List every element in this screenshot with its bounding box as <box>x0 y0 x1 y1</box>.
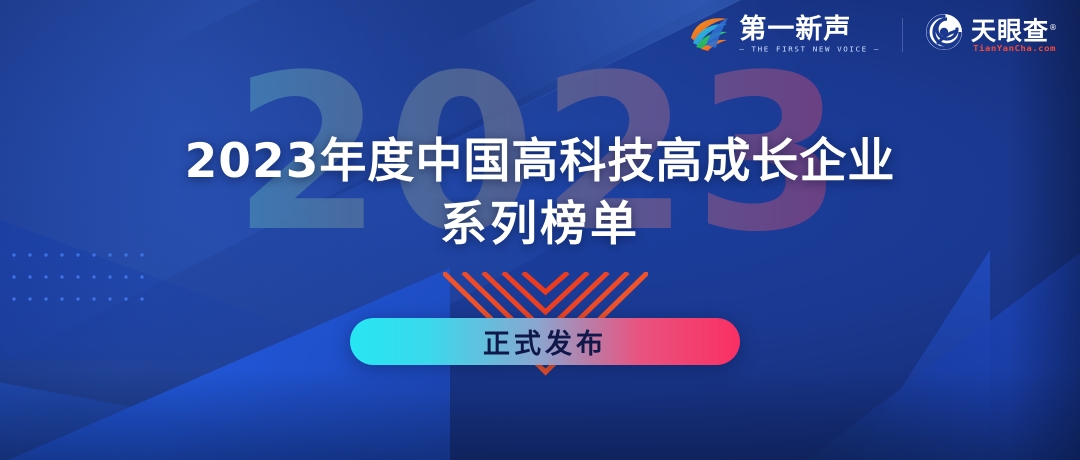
title-block: 2023年度中国高科技高成长企业 系列榜单 <box>0 133 1080 256</box>
logo-tianyancha[interactable]: 天眼查® TianYanCha.com <box>925 13 1058 56</box>
title-line-2: 系列榜单 <box>0 194 1080 256</box>
logo-tianyancha-name: 天眼查® <box>971 14 1058 44</box>
logo-diyixinsheng-tagline: — THE FIRST NEW VOICE — <box>739 44 880 54</box>
registered-mark: ® <box>1049 23 1058 32</box>
logo-tianyancha-name-text: 天眼查 <box>971 16 1049 45</box>
spiral-eye-icon <box>925 13 963 56</box>
title-line-1: 2023年度中国高科技高成长企业 <box>0 133 1080 191</box>
logo-diyixinsheng[interactable]: 第一新声 — THE FIRST NEW VOICE — <box>687 12 880 57</box>
banner-poster: 2023 2023年度中国高科技高成长企业 系列榜单 正式发布 <box>0 0 1080 460</box>
logo-diyixinsheng-name: 第一新声 <box>739 15 880 44</box>
logo-divider <box>902 18 903 52</box>
logo-tianyancha-text: 天眼查® TianYanCha.com <box>971 14 1058 55</box>
logo-diyixinsheng-text: 第一新声 — THE FIRST NEW VOICE — <box>739 15 880 55</box>
swirl-ribbon-icon <box>687 12 731 57</box>
logo-tianyancha-tagline: TianYanCha.com <box>971 45 1058 55</box>
release-status-label: 正式发布 <box>483 322 607 361</box>
logo-bar: 第一新声 — THE FIRST NEW VOICE — 天眼查® TianYa… <box>687 12 1058 57</box>
release-status-badge[interactable]: 正式发布 <box>350 318 740 365</box>
